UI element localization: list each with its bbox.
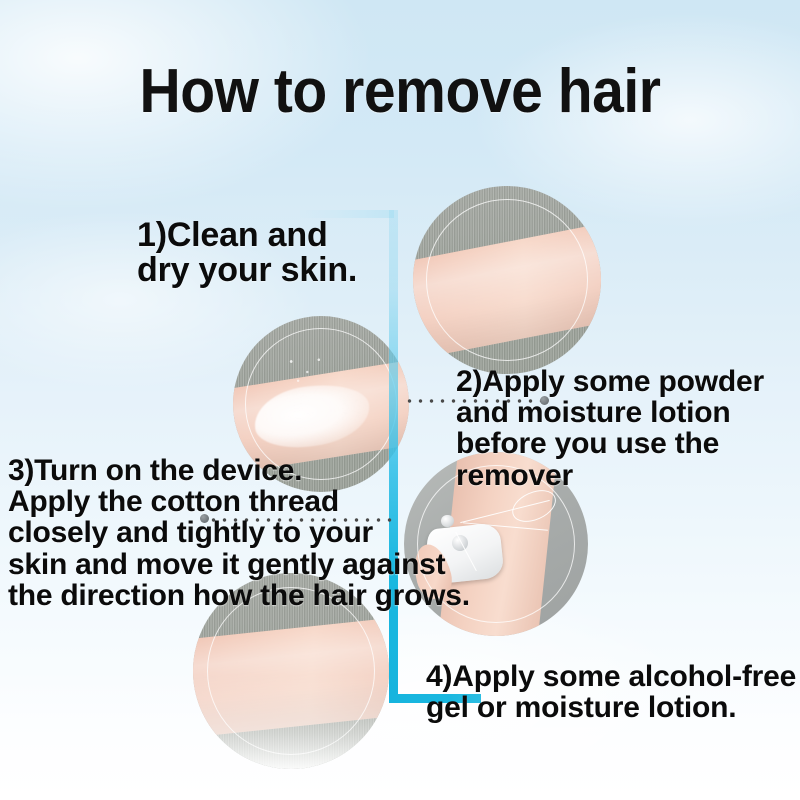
page-title: How to remove hair bbox=[32, 56, 768, 127]
step-1-text: 1)Clean and dry your skin. bbox=[137, 218, 357, 289]
step-4-text: 4)Apply some alcohol-free gel or moistur… bbox=[426, 661, 796, 723]
step-3-text: 3)Turn on the device. Apply the cotton t… bbox=[8, 455, 470, 611]
clean-dry-skin-photo bbox=[413, 186, 601, 374]
how-to-remove-hair-poster: How to remove hair bbox=[0, 0, 800, 800]
step-2-text: 2)Apply some powder and moisture lotion … bbox=[456, 366, 800, 491]
powder-specks bbox=[282, 351, 328, 386]
